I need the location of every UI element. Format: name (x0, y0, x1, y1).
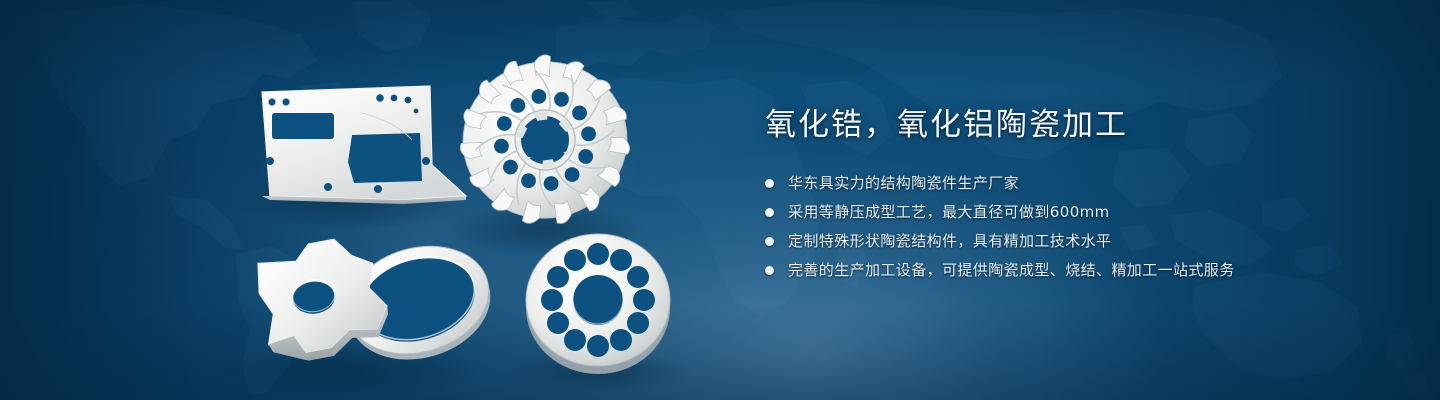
promo-banner: 氧化锆，氧化铝陶瓷加工 华东具实力的结构陶瓷件生产厂家 采用等静压成型工艺，最大… (0, 0, 1440, 400)
feature-text: 华东具实力的结构陶瓷件生产厂家 (788, 172, 1019, 194)
page-title: 氧化锆，氧化铝陶瓷加工 (765, 104, 1405, 146)
feature-text: 定制特殊形状陶瓷结构件，具有精加工技术水平 (788, 230, 1111, 252)
bullet-dot-icon (765, 237, 774, 246)
banner-copy: 氧化锆，氧化铝陶瓷加工 华东具实力的结构陶瓷件生产厂家 采用等静压成型工艺，最大… (765, 104, 1405, 288)
ceramic-perforated-disc (526, 234, 670, 374)
list-item: 华东具实力的结构陶瓷件生产厂家 (765, 172, 1405, 194)
feature-text: 完善的生产加工设备，可提供陶瓷成型、烧结、精加工一站式服务 (788, 259, 1235, 281)
feature-text: 采用等静压成型工艺，最大直径可做到600mm (788, 201, 1110, 223)
list-item: 采用等静压成型工艺，最大直径可做到600mm (765, 201, 1405, 223)
bullet-dot-icon (765, 179, 774, 188)
bullet-dot-icon (765, 266, 774, 275)
bullet-dot-icon (765, 208, 774, 217)
ceramic-products-group (0, 0, 760, 400)
ceramic-machined-plate (262, 86, 466, 204)
list-item: 定制特殊形状陶瓷结构件，具有精加工技术水平 (765, 230, 1405, 252)
feature-list: 华东具实力的结构陶瓷件生产厂家 采用等静压成型工艺，最大直径可做到600mm 定… (765, 172, 1405, 281)
list-item: 完善的生产加工设备，可提供陶瓷成型、烧结、精加工一站式服务 (765, 259, 1405, 281)
ceramic-impeller-wheel (449, 45, 642, 237)
